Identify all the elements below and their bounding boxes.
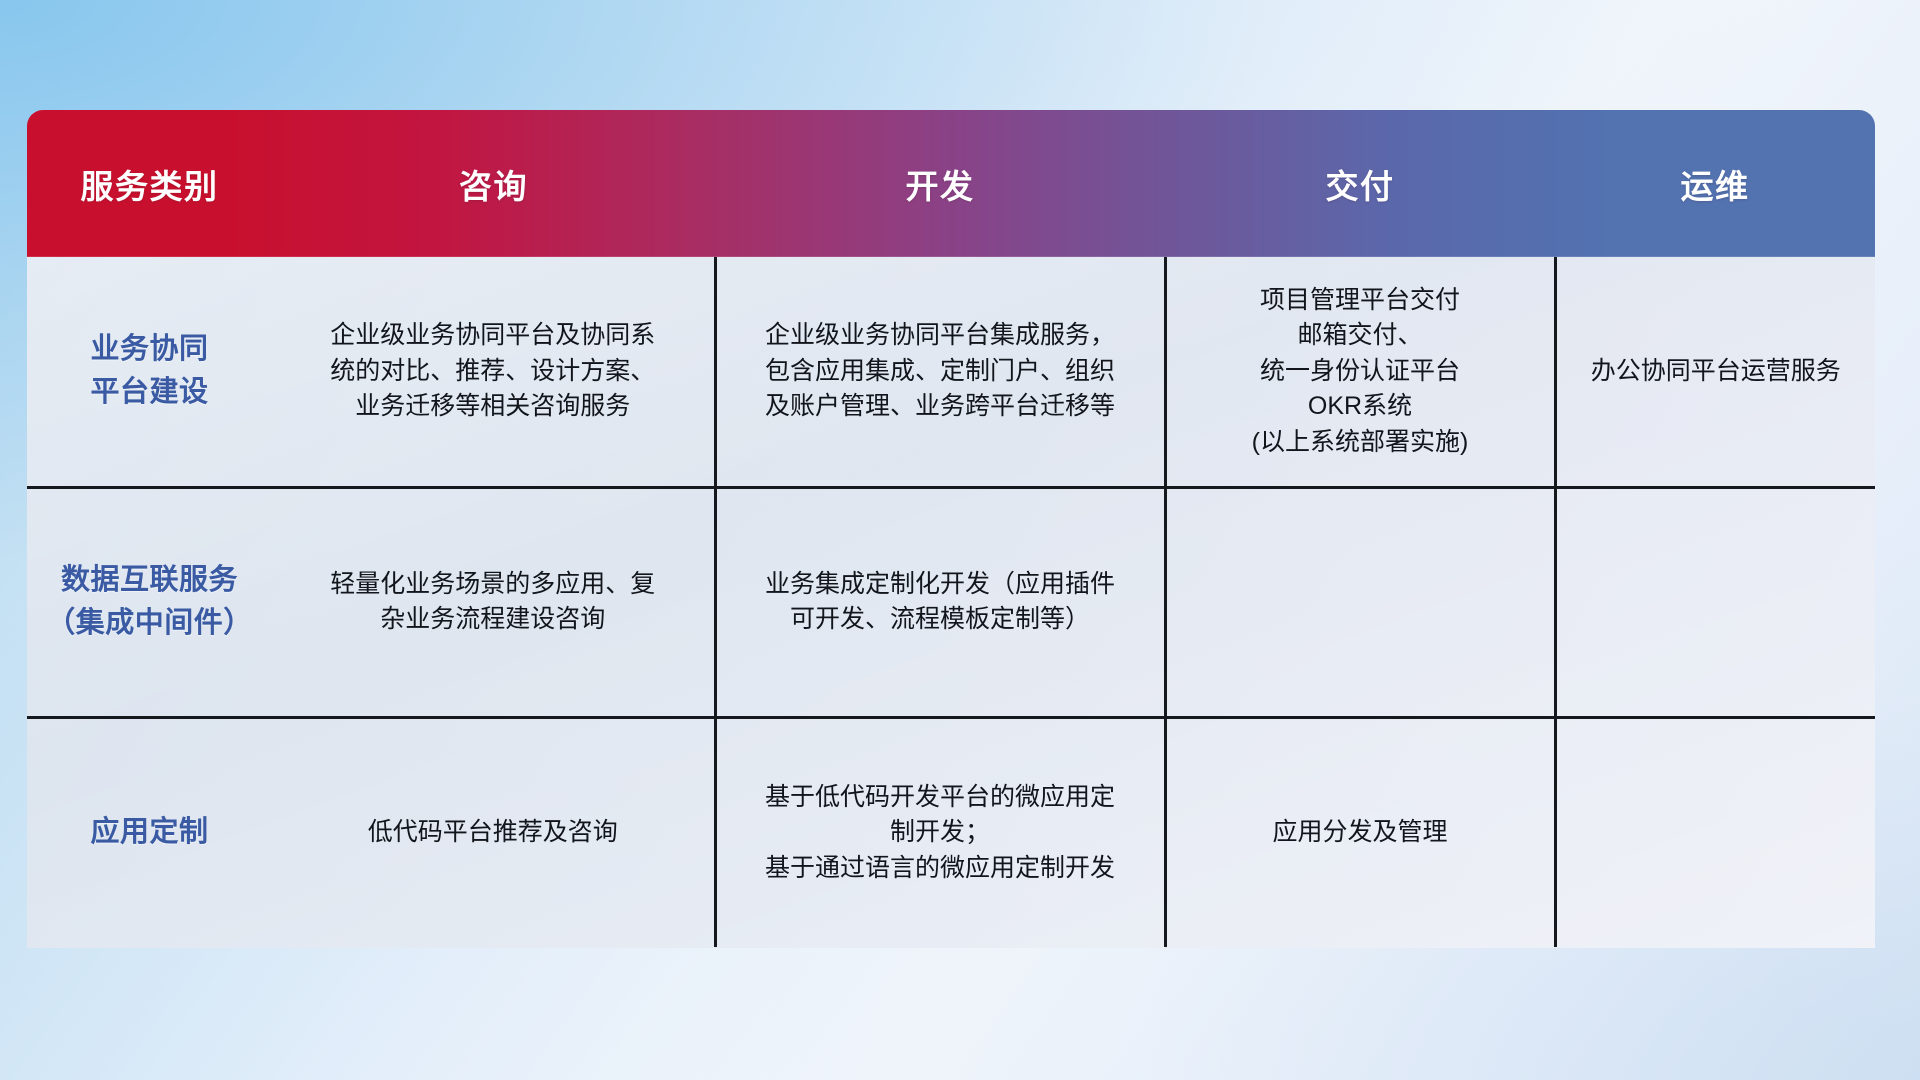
cell-development-text: 业务集成定制化开发（应用插件 可开发、流程模板定制等） xyxy=(735,567,1146,638)
cell-development: 基于低代码开发平台的微应用定 制开发； 基于通过语言的微应用定制开发 xyxy=(715,717,1165,947)
cell-operations xyxy=(1555,717,1875,947)
column-header-development-label: 开发 xyxy=(715,160,1165,208)
cell-development-text: 企业级业务协同平台集成服务， 包含应用集成、定制门户、组织 及账户管理、业务跨平… xyxy=(735,318,1146,425)
cell-operations-text: 办公协同平台运营服务 xyxy=(1575,354,1858,390)
cell-operations xyxy=(1555,487,1875,717)
column-header-consulting: 咨询 xyxy=(272,110,715,257)
cell-delivery-text: 应用分发及管理 xyxy=(1185,815,1536,851)
service-matrix-container: 服务类别 咨询 开发 交付 运维 xyxy=(27,110,1875,948)
column-header-category-label: 服务类别 xyxy=(27,160,272,208)
column-header-delivery: 交付 xyxy=(1165,110,1555,257)
cell-development-text: 基于低代码开发平台的微应用定 制开发； 基于通过语言的微应用定制开发 xyxy=(735,780,1146,887)
row-category-cell: 业务协同 平台建设 xyxy=(27,257,272,487)
row-category-label: 数据互联服务 （集成中间件） xyxy=(45,559,254,646)
cell-consulting: 企业级业务协同平台及协同系 统的对比、推荐、设计方案、 业务迁移等相关咨询服务 xyxy=(272,257,715,487)
column-header-delivery-label: 交付 xyxy=(1165,160,1555,208)
cell-consulting-text: 企业级业务协同平台及协同系 统的对比、推荐、设计方案、 业务迁移等相关咨询服务 xyxy=(290,318,696,425)
column-header-consulting-label: 咨询 xyxy=(272,160,715,208)
column-header-development: 开发 xyxy=(715,110,1165,257)
table-row: 数据互联服务 （集成中间件） 轻量化业务场景的多应用、复 杂业务流程建设咨询 业… xyxy=(27,487,1875,717)
cell-delivery: 项目管理平台交付 邮箱交付、 统一身份认证平台 OKR系统 (以上系统部署实施) xyxy=(1165,257,1555,487)
cell-delivery-text: 项目管理平台交付 邮箱交付、 统一身份认证平台 OKR系统 (以上系统部署实施) xyxy=(1185,283,1536,461)
column-header-category: 服务类别 xyxy=(27,110,272,257)
cell-consulting-text: 低代码平台推荐及咨询 xyxy=(290,815,696,851)
cell-delivery: 应用分发及管理 xyxy=(1165,717,1555,947)
table-row: 业务协同 平台建设 企业级业务协同平台及协同系 统的对比、推荐、设计方案、 业务… xyxy=(27,257,1875,487)
service-matrix-table: 服务类别 咨询 开发 交付 运维 xyxy=(27,110,1875,947)
cell-consulting: 低代码平台推荐及咨询 xyxy=(272,717,715,947)
column-header-operations-label: 运维 xyxy=(1555,160,1875,208)
page-root: 服务类别 咨询 开发 交付 运维 xyxy=(0,0,1920,1080)
table-header: 服务类别 咨询 开发 交付 运维 xyxy=(27,110,1875,257)
cell-consulting: 轻量化业务场景的多应用、复 杂业务流程建设咨询 xyxy=(272,487,715,717)
table-body: 业务协同 平台建设 企业级业务协同平台及协同系 统的对比、推荐、设计方案、 业务… xyxy=(27,257,1875,947)
cell-consulting-text: 轻量化业务场景的多应用、复 杂业务流程建设咨询 xyxy=(290,567,696,638)
cell-development: 企业级业务协同平台集成服务， 包含应用集成、定制门户、组织 及账户管理、业务跨平… xyxy=(715,257,1165,487)
row-category-label: 业务协同 平台建设 xyxy=(45,328,254,415)
header-row: 服务类别 咨询 开发 交付 运维 xyxy=(27,110,1875,257)
cell-development: 业务集成定制化开发（应用插件 可开发、流程模板定制等） xyxy=(715,487,1165,717)
row-category-label: 应用定制 xyxy=(45,811,254,855)
column-header-operations: 运维 xyxy=(1555,110,1875,257)
cell-delivery xyxy=(1165,487,1555,717)
table-row: 应用定制 低代码平台推荐及咨询 基于低代码开发平台的微应用定 制开发； 基于通过… xyxy=(27,717,1875,947)
cell-operations: 办公协同平台运营服务 xyxy=(1555,257,1875,487)
row-category-cell: 应用定制 xyxy=(27,717,272,947)
row-category-cell: 数据互联服务 （集成中间件） xyxy=(27,487,272,717)
